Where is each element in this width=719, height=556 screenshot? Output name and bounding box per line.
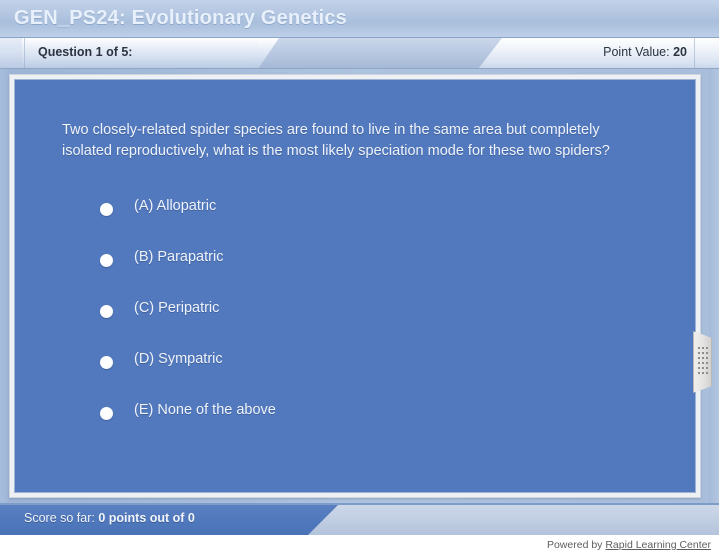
resize-grip-handle[interactable] [693, 331, 712, 393]
page-title: GEN_PS24: Evolutionary Genetics [14, 7, 347, 30]
stage-right-bevel [709, 69, 719, 503]
point-value: Point Value: 20 [603, 45, 687, 59]
title-bar: GEN_PS24: Evolutionary Genetics [0, 0, 719, 38]
answer-option-label: (A) Allopatric [134, 198, 216, 214]
question-status-bar: Question 1 of 5: Point Value: 20 [0, 38, 719, 69]
quiz-application: GEN_PS24: Evolutionary Genetics Question… [0, 0, 719, 556]
question-bar-left-edge [0, 38, 22, 69]
point-value-number: 20 [673, 45, 687, 59]
answer-option-label: (D) Sympatric [134, 351, 223, 367]
answer-option-e[interactable]: (E) None of the above [100, 399, 620, 450]
answer-option-b[interactable]: (B) Parapatric [100, 246, 620, 297]
answer-option-label: (E) None of the above [134, 402, 276, 418]
grip-dots-icon [698, 347, 710, 379]
content-stage: Two closely-related spider species are f… [0, 69, 719, 503]
radio-button-icon[interactable] [100, 254, 113, 267]
score-value: 0 points out of 0 [98, 511, 195, 525]
question-text: Two closely-related spider species are f… [62, 120, 627, 162]
stage-left-bevel [0, 69, 9, 503]
vendor-link[interactable]: Rapid Learning Center [605, 539, 711, 551]
radio-button-icon[interactable] [100, 407, 113, 420]
powered-by-text: Powered by Rapid Learning Center [547, 539, 711, 551]
radio-button-icon[interactable] [100, 356, 113, 369]
radio-button-icon[interactable] [100, 305, 113, 318]
score-status: Score so far: 0 points out of 0 [24, 511, 195, 525]
question-bar-divider-left [24, 38, 25, 69]
answer-option-c[interactable]: (C) Peripatric [100, 297, 620, 348]
answer-option-label: (C) Peripatric [134, 300, 219, 316]
question-panel: Two closely-related spider species are f… [14, 79, 696, 493]
score-bar-top-border [0, 503, 719, 505]
score-label: Score so far: [24, 511, 95, 525]
answer-options-list: (A) Allopatric (B) Parapatric (C) Peripa… [100, 195, 620, 450]
point-value-label: Point Value: [603, 45, 669, 59]
answer-option-a[interactable]: (A) Allopatric [100, 195, 620, 246]
score-bar: Score so far: 0 points out of 0 [0, 503, 719, 535]
footer: Powered by Rapid Learning Center [0, 535, 719, 556]
powered-by-label: Powered by [547, 539, 602, 551]
question-counter: Question 1 of 5: [38, 45, 132, 59]
question-bar-divider-right [694, 38, 695, 69]
question-panel-frame: Two closely-related spider species are f… [9, 74, 701, 498]
answer-option-d[interactable]: (D) Sympatric [100, 348, 620, 399]
radio-button-icon[interactable] [100, 203, 113, 216]
answer-option-label: (B) Parapatric [134, 249, 223, 265]
